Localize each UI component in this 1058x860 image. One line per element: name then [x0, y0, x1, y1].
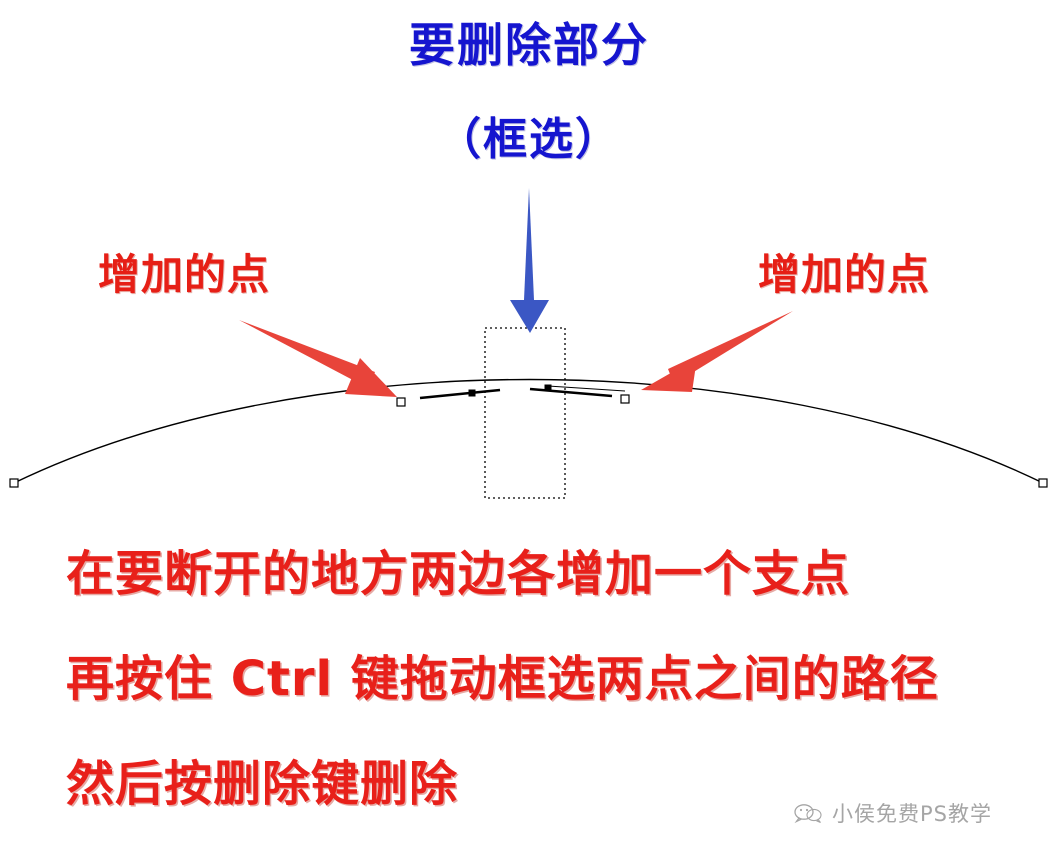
right-red-arrow	[641, 311, 793, 392]
instruction-line-2: 再按住 Ctrl 键拖动框选两点之间的路径	[66, 655, 939, 703]
added-anchor-right[interactable]	[621, 395, 629, 403]
instruction-line-3: 然后按删除键删除	[66, 760, 458, 808]
selected-anchor-2[interactable]	[545, 385, 551, 391]
left-red-arrow	[239, 320, 397, 397]
marquee-selection-rect[interactable]	[485, 328, 565, 498]
selected-anchor-1[interactable]	[469, 390, 475, 396]
direction-handle-right	[530, 389, 612, 396]
callout-label-right-added-point: 增加的点	[758, 254, 930, 296]
instruction-line-1: 在要断开的地方两边各增加一个支点	[66, 550, 850, 598]
path-endpoint-left[interactable]	[10, 479, 18, 487]
blue-down-arrow	[510, 188, 549, 333]
bezier-path[interactable]	[14, 380, 1043, 484]
watermark-text: 小侯免费PS教学	[832, 798, 992, 828]
diagram-canvas: 要删除部分 （框选） 增加的点 增加的点 在要断开的地方两边各增加一个支点 再按…	[0, 0, 1058, 860]
heading-marquee-hint: （框选）	[0, 118, 1058, 162]
added-anchor-left[interactable]	[397, 398, 405, 406]
wechat-icon	[793, 801, 823, 825]
callout-label-left-added-point: 增加的点	[98, 254, 270, 296]
path-endpoint-right[interactable]	[1039, 479, 1047, 487]
heading-delete-section: 要删除部分	[0, 22, 1058, 68]
watermark: 小侯免费PS教学	[793, 798, 992, 828]
direction-handle-left	[420, 390, 500, 398]
